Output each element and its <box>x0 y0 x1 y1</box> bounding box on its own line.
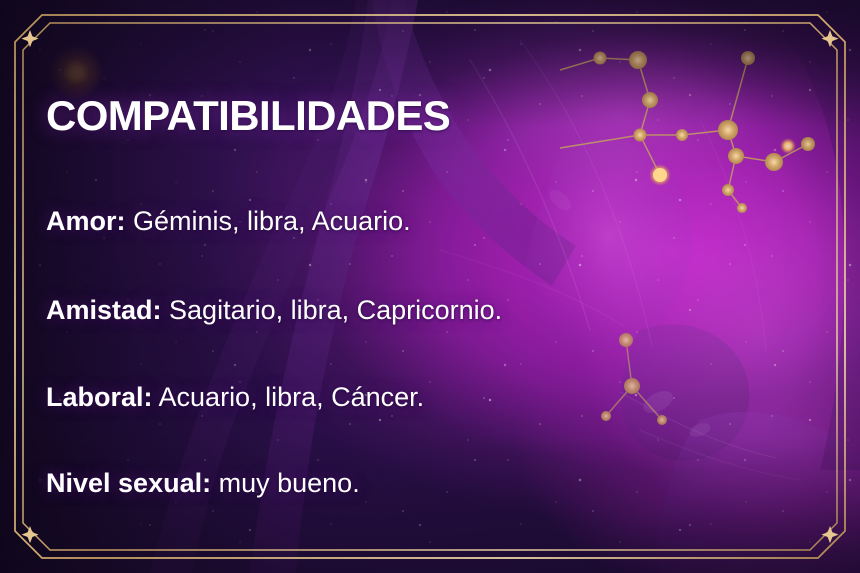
compatibility-value: Géminis, libra, Acuario. <box>133 206 411 236</box>
compatibility-label: Amistad: <box>46 295 162 325</box>
compatibility-value: muy bueno. <box>219 468 360 498</box>
compatibility-label: Nivel sexual: <box>46 468 211 498</box>
compatibility-row: Laboral: Acuario, libra, Cáncer. <box>46 382 424 413</box>
compatibility-row: Amor: Géminis, libra, Acuario. <box>46 206 411 237</box>
compatibility-row: Nivel sexual: muy bueno. <box>46 468 360 499</box>
compatibility-row: Amistad: Sagitario, libra, Capricornio. <box>46 295 502 326</box>
compatibilities-card: COMPATIBILIDADES Amor: Géminis, libra, A… <box>0 0 860 573</box>
compatibility-value: Sagitario, libra, Capricornio. <box>169 295 502 325</box>
compatibility-label: Amor: <box>46 206 126 236</box>
page-title: COMPATIBILIDADES <box>46 92 450 140</box>
card-content: COMPATIBILIDADES Amor: Géminis, libra, A… <box>0 0 860 573</box>
compatibility-label: Laboral: <box>46 382 153 412</box>
compatibility-value: Acuario, libra, Cáncer. <box>159 382 425 412</box>
